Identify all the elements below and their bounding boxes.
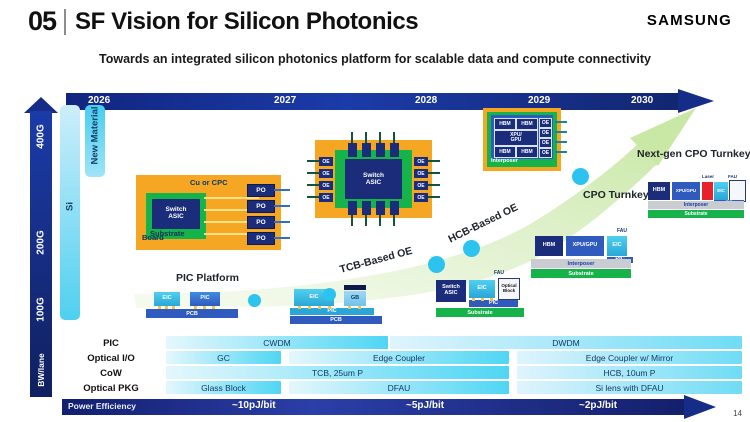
milestone-dot-nextgen [572,168,589,185]
oe-top-2 [362,143,371,157]
hbm-block-3: HBM [494,146,516,158]
oe-right-1: OE [414,157,428,166]
nextgen-interposer: Interposer [648,201,744,209]
nextgen-substrate: Substrate [648,210,744,218]
table-row-label-pic: PIC [60,338,162,349]
pic-platform-pic: PIC [190,292,220,306]
slide-number: 05 [28,6,56,37]
milestone-label-cpo: CPO Turnkey [583,189,649,201]
timeline-bar [66,93,686,110]
cpo-xpu-gpu: XPU/GPU [566,236,604,256]
nextgen-xpu-gpu: XPU/GPU [672,182,700,200]
cpo-hbm: HBM [535,236,563,256]
oe-right-4: OE [414,193,428,202]
table-cell-cwdm: CWDM [166,336,388,349]
interposer-blue: HBM HBM XPU/GPU HBM HBM OE OE OE OE [491,115,553,159]
oe-right-3: OE [414,181,428,190]
power-efficiency-value-1: ~10pJ/bit [232,400,276,411]
table-row-label-cow: CoW [60,368,162,379]
oe-block-4: OE [539,148,552,158]
nextgen-hbm: HBM [648,182,670,200]
oe-right-2: OE [414,169,428,178]
material-bar-si-label: Si [65,181,76,233]
oe-bottom-2 [362,201,371,215]
interposer-green: HBM HBM XPU/GPU HBM HBM OE OE OE OE Inte… [487,112,557,167]
timeline-year-2027: 2027 [274,95,296,106]
cpo-substrate: Substrate [531,269,631,278]
timeline-year-2030: 2030 [631,95,653,106]
oe-left-1: OE [319,157,333,166]
slide-header: 05 SF Vision for Silicon Photonics [28,6,418,37]
nextgen-laser [702,182,713,200]
cpo-eic: EIC [607,236,627,256]
axis-tick-200g: 200G [36,222,47,264]
slide: 05 SF Vision for Silicon Photonics SAMSU… [0,0,750,422]
tcb-oe-gb: GB [344,291,366,306]
oe-bottom-3 [376,201,385,215]
material-bar-si: Si [60,105,80,320]
power-efficiency-value-2: ~5pJ/bit [406,400,444,411]
power-efficiency-value-3: ~2pJ/bit [579,400,617,411]
milestone-dot-cpo [463,240,480,257]
samsung-logo: SAMSUNG [647,12,732,29]
po-module-1: PO [247,184,275,197]
power-efficiency-axis: Power Efficiency ~10pJ/bit ~5pJ/bit ~2pJ… [62,399,722,416]
hbm-block-4: HBM [516,146,538,158]
hcb-oe-switch-asic: SwitchASIC [436,280,466,302]
board-switch-asic: SwitchASIC [152,199,200,229]
hbm-block-1: HBM [494,118,516,130]
oe-top-3 [376,143,385,157]
power-efficiency-label: Power Efficiency [68,401,136,411]
diagram-interposer-2029: HBM HBM XPU/GPU HBM HBM OE OE OE OE Inte… [483,108,561,171]
nextgen-laser-label: Laser [702,174,714,179]
timeline-arrowhead [678,89,714,113]
diagram-cpo-turnkey: HBM XPU/GPU EIC FAU PIC Interposer Subst… [531,228,635,278]
material-bar-new-material: New Material [85,105,105,177]
po-module-4: PO [247,232,275,245]
tcb-oe-cap [344,285,366,290]
hcb-oe-substrate: Substrate [436,308,524,317]
nextgen-eic: EIC [714,182,728,200]
diagram-asic-package-2027: SwitchASIC OE OE OE OE OE OE OE OE [315,140,432,218]
diagram-tcb-oe: EIC GB PIC PCB [290,285,386,321]
oe-block-1: OE [539,118,552,128]
roadmap-table: PIC Optical I/O CoW Optical PKG CWDM DWD… [60,336,750,398]
oe-top-1 [348,143,357,157]
page-title: SF Vision for Silicon Photonics [75,8,418,36]
table-cell-dwdm: DWDM [390,336,742,349]
oe-bottom-4 [390,201,399,215]
board-interconnect-label: Cu or CPC [190,178,228,187]
hbm-block-2: HBM [516,118,538,130]
oe-left-2: OE [319,169,333,178]
header-divider [64,9,66,35]
oe-block-2: OE [539,128,552,138]
axis-tick-400g: 400G [36,116,47,158]
table-cell-glass-block: Glass Block [166,381,281,394]
table-row-label-optical-pkg: Optical PKG [60,383,162,394]
tcb-oe-pic: PIC [290,308,374,315]
cpo-fau-label: FAU [617,228,627,234]
table-cell-edge-coupler: Edge Coupler [289,351,509,364]
bandwidth-axis: 400G 200G 100G BW/lane [30,97,52,397]
milestone-dot-pic-platform [248,294,261,307]
pic-platform-pcb: PCB [146,309,238,318]
diagram-nextgen-cpo: HBM XPU/GPU Laser EIC FAU PIC Interposer… [648,172,748,220]
hcb-oe-eic: EIC [469,280,495,298]
power-efficiency-arrowhead [684,395,716,419]
axis-tick-100g: 100G [36,289,47,331]
hcb-oe-optical-block: OpticalBlock [498,278,520,300]
milestone-dot-tcb [323,288,336,301]
oe-top-4 [390,143,399,157]
table-cell-tcb: TCB, 25um P [166,366,509,379]
milestone-label-pic-platform: PIC Platform [176,272,239,284]
table-cell-hcb: HCB, 10um P [517,366,742,379]
nextgen-fau-label: FAU [728,174,737,179]
po-module-3: PO [247,216,275,229]
xpu-gpu-block: XPU/GPU [494,130,538,146]
milestone-label-nextgen: Next-gen CPO Turnkey [637,148,750,160]
table-cell-edge-coupler-mirror: Edge Coupler w/ Mirror [517,351,742,364]
diagram-pic-platform: EIC PIC PCB [146,292,242,320]
material-bar-new-material-label: New Material [90,90,101,182]
po-module-2: PO [247,200,275,213]
milestone-dot-hcb [428,256,445,273]
oe-bottom-1 [348,201,357,215]
page-number: 14 [733,409,742,418]
hcb-oe-fau-label: FAU [494,270,504,276]
tcb-oe-pcb: PCB [290,316,382,324]
board-label: Board [142,233,164,242]
hcb-oe-pic: PIC [469,300,518,307]
axis-label-bw-lane: BW/lane [36,349,46,391]
package-switch-asic: SwitchASIC [345,159,402,199]
table-cell-dfau: DFAU [289,381,509,394]
cpo-interposer: Interposer [531,259,631,268]
table-row-label-optical-io: Optical I/O [60,353,162,364]
pic-platform-eic: EIC [154,292,180,306]
oe-left-3: OE [319,181,333,190]
table-cell-gc: GC [166,351,281,364]
table-cell-si-lens-dfau: Si lens with DFAU [517,381,742,394]
diagram-hcb-oe: SwitchASIC EIC OpticalBlock FAU PIC Subs… [436,270,528,322]
timeline-year-2028: 2028 [415,95,437,106]
timeline-year-2029: 2029 [528,95,550,106]
interposer-label: Interposer [491,158,518,164]
oe-left-4: OE [319,193,333,202]
timeline-axis: 2026 2027 2028 2029 2030 [66,93,714,110]
subtitle: Towards an integrated silicon photonics … [0,52,750,66]
oe-block-3: OE [539,138,552,148]
